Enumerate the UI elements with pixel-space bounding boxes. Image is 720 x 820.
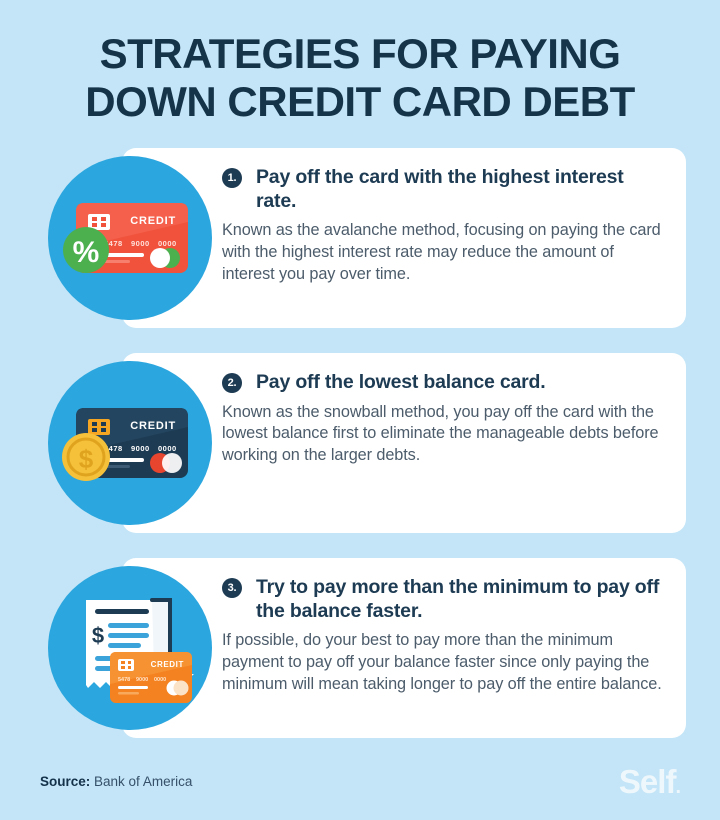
strategy-body-2: Known as the snowball method, you pay of… [222,402,666,467]
credit-card-coin-icon: CREDIT 5478 9000 0000 $ [48,361,212,525]
svg-text:0000: 0000 [154,677,166,683]
svg-text:CREDIT: CREDIT [151,660,184,669]
strategy-icon-circle-1: CREDIT 5478 9000 0000 % [48,156,212,320]
svg-text:CREDIT: CREDIT [130,420,176,432]
strategy-number-badge-2: 2. [222,373,242,393]
strategy-heading-1: 1. Pay off the card with the highest int… [222,166,666,214]
svg-text:$: $ [79,444,94,474]
svg-text:$: $ [92,623,104,648]
credit-card-percent-icon: CREDIT 5478 9000 0000 % [48,156,212,320]
strategy-number-badge-1: 1. [222,168,242,188]
strategy-row-3: $ CREDIT 5478 9000 0000 [0,558,720,738]
source-value: Bank of America [94,774,192,789]
strategy-heading-text-2: Pay off the lowest balance card. [256,371,545,393]
footer: Source: Bank of America Self. [0,764,720,798]
receipt-credit-card-icon: $ CREDIT 5478 9000 0000 [48,566,212,730]
strategy-content-2: 2. Pay off the lowest balance card. Know… [222,371,666,467]
strategy-row-2: CREDIT 5478 9000 0000 $ [0,353,720,533]
self-logo-dot: . [675,776,680,798]
strategy-heading-text-3: Try to pay more than the minimum to pay … [256,576,659,622]
strategy-number-badge-3: 3. [222,578,242,598]
source-attribution: Source: Bank of America [40,774,192,789]
strategy-body-3: If possible, do your best to pay more th… [222,630,666,695]
strategy-icon-circle-2: CREDIT 5478 9000 0000 $ [48,361,212,525]
svg-text:9000: 9000 [136,677,148,683]
strategy-heading-2: 2. Pay off the lowest balance card. [222,371,666,395]
svg-text:CREDIT: CREDIT [130,215,176,227]
strategy-body-1: Known as the avalanche method, focusing … [222,220,666,285]
header: STRATEGIES FOR PAYING DOWN CREDIT CARD D… [0,0,720,126]
strategy-content-1: 1. Pay off the card with the highest int… [222,166,666,286]
svg-text:9000: 9000 [131,239,150,248]
strategy-list: CREDIT 5478 9000 0000 % 1. [0,148,720,738]
svg-text:9000: 9000 [131,444,150,453]
strategy-row-1: CREDIT 5478 9000 0000 % 1. [0,148,720,328]
strategy-heading-3: 3. Try to pay more than the minimum to p… [222,576,666,624]
source-label: Source: [40,774,90,789]
svg-text:0000: 0000 [158,239,177,248]
self-logo: Self. [619,765,680,798]
page-title: STRATEGIES FOR PAYING DOWN CREDIT CARD D… [34,30,686,126]
strategy-icon-circle-3: $ CREDIT 5478 9000 0000 [48,566,212,730]
strategy-content-3: 3. Try to pay more than the minimum to p… [222,576,666,696]
svg-text:0000: 0000 [158,444,177,453]
self-logo-text: Self [619,763,676,800]
svg-text:%: % [73,236,100,269]
svg-text:5478: 5478 [118,677,130,683]
strategy-heading-text-1: Pay off the card with the highest intere… [256,166,624,212]
